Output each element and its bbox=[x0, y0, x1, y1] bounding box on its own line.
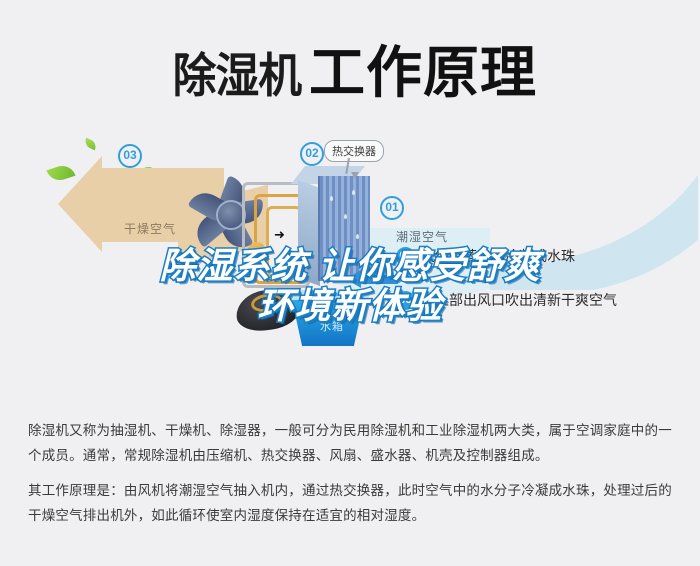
air-inlet-arrow-icon bbox=[346, 270, 398, 288]
page-title: 除湿机工作原理 bbox=[0, 28, 700, 109]
list-item: 02 气经过蒸发器冷凝成水珠 bbox=[396, 246, 696, 266]
water-tank-label: 水箱 bbox=[320, 318, 344, 334]
poster-root: 除湿机工作原理 干燥空气 bbox=[0, 0, 700, 566]
humid-air-label: 潮湿空气 bbox=[396, 228, 448, 245]
marker-03: 03 bbox=[118, 144, 142, 168]
step-list: 02 气经过蒸发器冷凝成水珠 03 从上部出风口吹出清新干爽空气 bbox=[396, 246, 696, 334]
flow-arrow-up-icon: ↑ bbox=[260, 250, 267, 263]
step-text: 从上部出风口吹出清新干爽空气 bbox=[421, 290, 617, 310]
paragraph-2: 其工作原理是：由风机将潮湿空气抽入机内，通过热交换器，此时空气中的水分子冷凝成水… bbox=[28, 478, 676, 528]
marker-02: 02 bbox=[300, 142, 324, 166]
dry-air-label: 干燥空气 bbox=[124, 220, 176, 237]
marker-01: 01 bbox=[380, 196, 404, 220]
water-tank: 水箱 bbox=[288, 290, 372, 356]
list-item: 03 从上部出风口吹出清新干爽空气 bbox=[396, 290, 696, 310]
step-number: 03 bbox=[396, 291, 415, 310]
heat-exchanger-unit bbox=[296, 166, 378, 286]
body-text: 除湿机又称为抽湿机、干燥机、除湿器，一般可分为民用除湿机和工业除湿机两大类，属于… bbox=[28, 418, 676, 538]
callout-pointer-icon bbox=[351, 172, 359, 179]
title-part-principle: 工作原理 bbox=[309, 28, 537, 109]
flow-arrow-right-icon: ➜ bbox=[274, 228, 285, 241]
title-part-machine: 除湿机 bbox=[173, 37, 301, 106]
step-number: 02 bbox=[396, 247, 415, 266]
heat-exchanger-callout: 热交换器 bbox=[324, 140, 384, 162]
step-text: 气经过蒸发器冷凝成水珠 bbox=[421, 246, 575, 266]
paragraph-1: 除湿机又称为抽湿机、干燥机、除湿器，一般可分为民用除湿机和工业除湿机两大类，属于… bbox=[28, 418, 676, 468]
